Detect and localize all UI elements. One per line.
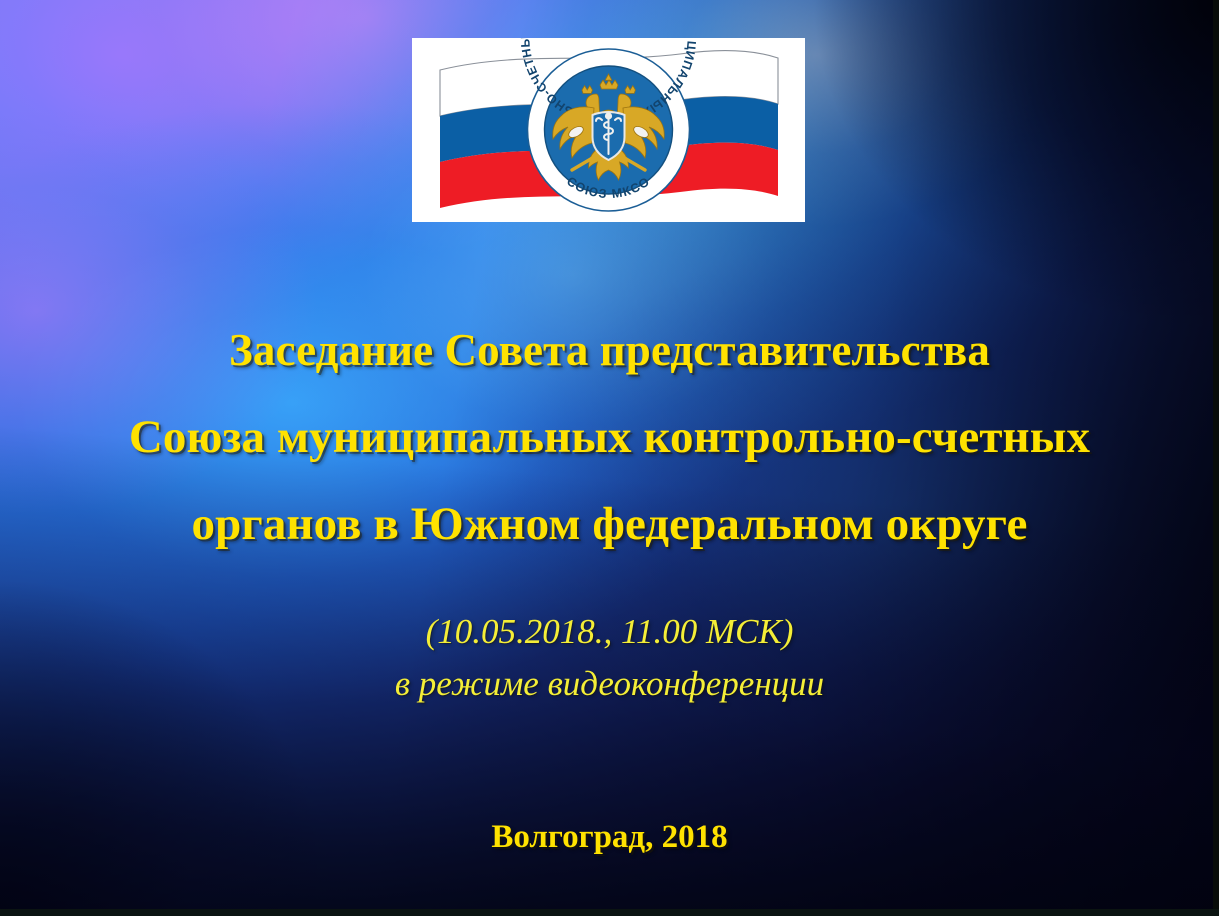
subtitle-datetime: (10.05.2018., 11.00 МСК) [0,606,1219,658]
footer-city-year: Волгоград, 2018 [0,815,1219,859]
soyuz-mkso-logo-icon: СОЮЗ МУНИЦИПАЛЬНЫХ КОНТРОЛЬНО-СЧЕТНЫХ ОР… [412,38,805,222]
title-line-1: Заседание Совета представительства [0,307,1219,394]
slide-subtitle: (10.05.2018., 11.00 МСК) в режиме видеок… [0,606,1219,710]
title-line-2: Союза муниципальных контрольно-счетных [0,394,1219,481]
title-line-3: органов в Южном федеральном округе [0,481,1219,568]
presentation-slide: СОЮЗ МУНИЦИПАЛЬНЫХ КОНТРОЛЬНО-СЧЕТНЫХ ОР… [0,0,1219,916]
logo-card: СОЮЗ МУНИЦИПАЛЬНЫХ КОНТРОЛЬНО-СЧЕТНЫХ ОР… [412,38,805,222]
subtitle-mode: в режиме видеоконференции [0,658,1219,710]
slide-footer: Волгоград, 2018 [0,815,1219,859]
slide-edge-bottom [0,909,1219,916]
slide-title: Заседание Совета представительства Союза… [0,307,1219,568]
